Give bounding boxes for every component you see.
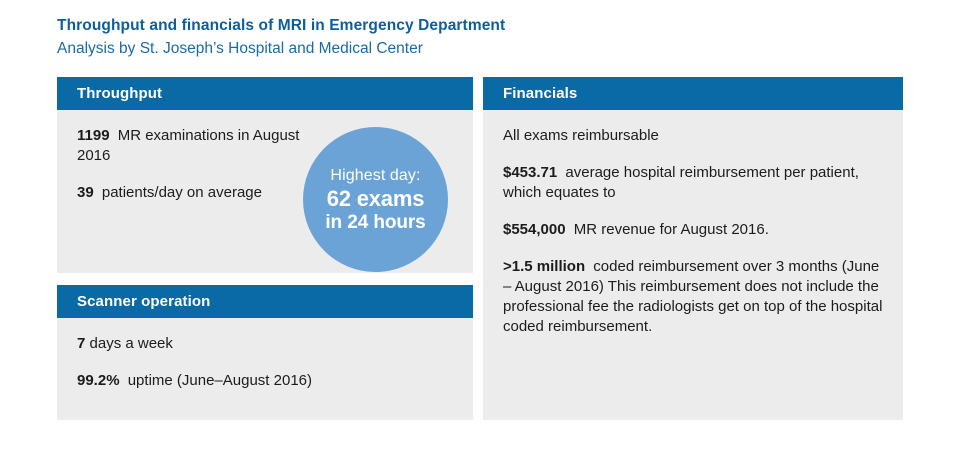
financials-panel-body: All exams reimbursable $453.71 average h…: [483, 110, 903, 347]
highest-day-value: 62 exams: [327, 186, 425, 211]
stat-uptime-value: 99.2%: [77, 372, 120, 389]
stat-average-reimbursement: $453.71 average hospital reimbursement p…: [503, 163, 883, 203]
stat-uptime: 99.2% uptime (June–August 2016): [77, 371, 453, 391]
page-subtitle: Analysis by St. Joseph’s Hospital and Me…: [57, 38, 757, 59]
stat-average-reimbursement-value: $453.71: [503, 164, 557, 181]
stat-patients-per-day-text: patients/day on average: [102, 184, 262, 201]
stat-days-a-week-value: 7: [77, 335, 85, 352]
stat-patients-per-day: 39 patients/day on average: [77, 183, 322, 203]
stat-mr-revenue: $554,000 MR revenue for August 2016.: [503, 220, 883, 240]
stat-coded-reimbursement: >1.5 million coded reimbursement over 3 …: [503, 257, 883, 337]
scanner-operation-panel-body: 7 days a week 99.2% uptime (June–August …: [57, 318, 473, 401]
title-block: Throughput and financials of MRI in Emer…: [57, 16, 757, 59]
scanner-operation-panel-header: Scanner operation: [57, 285, 473, 318]
infographic-page: Throughput and financials of MRI in Emer…: [0, 0, 960, 451]
financials-intro: All exams reimbursable: [503, 126, 883, 146]
page-title: Throughput and financials of MRI in Emer…: [57, 16, 757, 36]
throughput-panel-header: Throughput: [57, 77, 473, 110]
stat-coded-reimbursement-value: >1.5 million: [503, 258, 585, 275]
stat-mr-revenue-text: MR revenue for August 2016.: [574, 221, 769, 238]
highest-day-badge: Highest day: 62 exams in 24 hours: [303, 127, 448, 272]
stat-mr-examinations: 1199 MR examinations in August 2016: [77, 126, 322, 166]
financials-panel: Financials All exams reimbursable $453.7…: [483, 77, 903, 420]
stat-mr-examinations-text: MR examinations in August 2016: [77, 127, 299, 164]
stat-mr-revenue-value: $554,000: [503, 221, 566, 238]
stat-days-a-week-text: days a week: [90, 335, 173, 352]
financials-panel-header: Financials: [483, 77, 903, 110]
highest-day-unit: in 24 hours: [325, 211, 425, 234]
stat-uptime-text: uptime (June–August 2016): [128, 372, 312, 389]
highest-day-label: Highest day:: [330, 166, 420, 186]
stat-days-a-week: 7 days a week: [77, 334, 453, 354]
stat-mr-examinations-value: 1199: [77, 127, 110, 144]
stat-patients-per-day-value: 39: [77, 184, 94, 201]
scanner-operation-panel: Scanner operation 7 days a week 99.2% up…: [57, 285, 473, 420]
throughput-panel-body: 1199 MR examinations in August 2016 39 p…: [57, 110, 342, 213]
